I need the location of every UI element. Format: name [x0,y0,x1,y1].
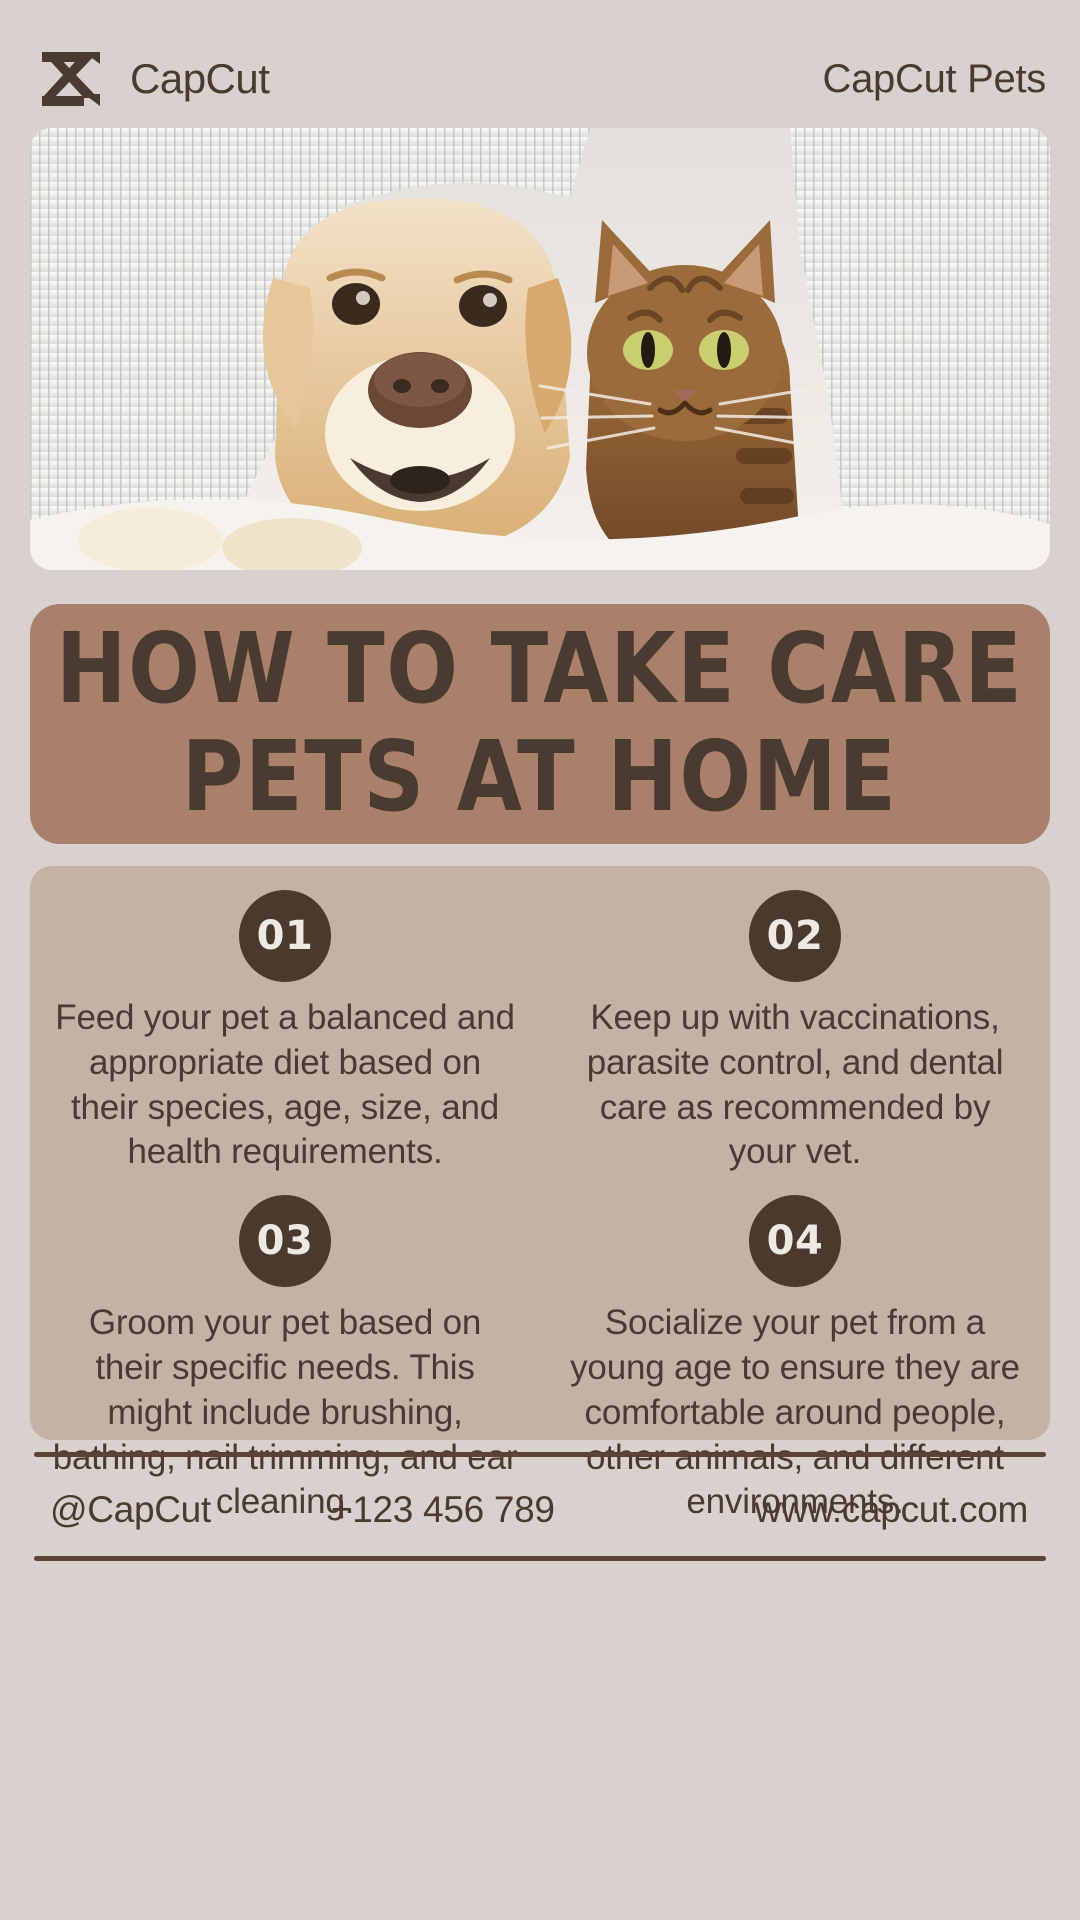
footer-divider-top [34,1452,1046,1457]
hero-image [30,128,1050,570]
footer-social-handle: @CapCut [50,1489,211,1531]
brand-lockup: CapCut [34,48,269,110]
header-right-label: CapCut Pets [823,57,1046,102]
step-item-01: 01 Feed your pet a balanced and appropri… [30,866,540,1175]
footer-divider-bottom [34,1556,1046,1561]
capcut-logo-icon [34,48,108,110]
steps-panel: 01 Feed your pet a balanced and appropri… [30,866,1050,1440]
brand-name: CapCut [130,55,269,103]
step-description: Keep up with vaccinations, parasite cont… [562,996,1028,1175]
step-description: Feed your pet a balanced and appropriate… [52,996,518,1175]
step-number-badge: 04 [749,1195,841,1287]
step-number-badge: 03 [239,1195,331,1287]
page-header: CapCut CapCut Pets [34,44,1046,114]
footer-website: www.capcut.com [755,1489,1028,1531]
step-item-02: 02 Keep up with vaccinations, parasite c… [540,866,1050,1175]
page-title-line-1: HOW TO TAKE CARE [56,621,1024,720]
page-footer: @CapCut +123 456 789 www.capcut.com [34,1470,1046,1550]
step-number-badge: 02 [749,890,841,982]
title-banner: HOW TO TAKE CARE PETS AT HOME [30,604,1050,844]
page-title-line-2: PETS AT HOME [182,728,898,827]
footer-phone: +123 456 789 [331,1489,555,1531]
step-number-badge: 01 [239,890,331,982]
